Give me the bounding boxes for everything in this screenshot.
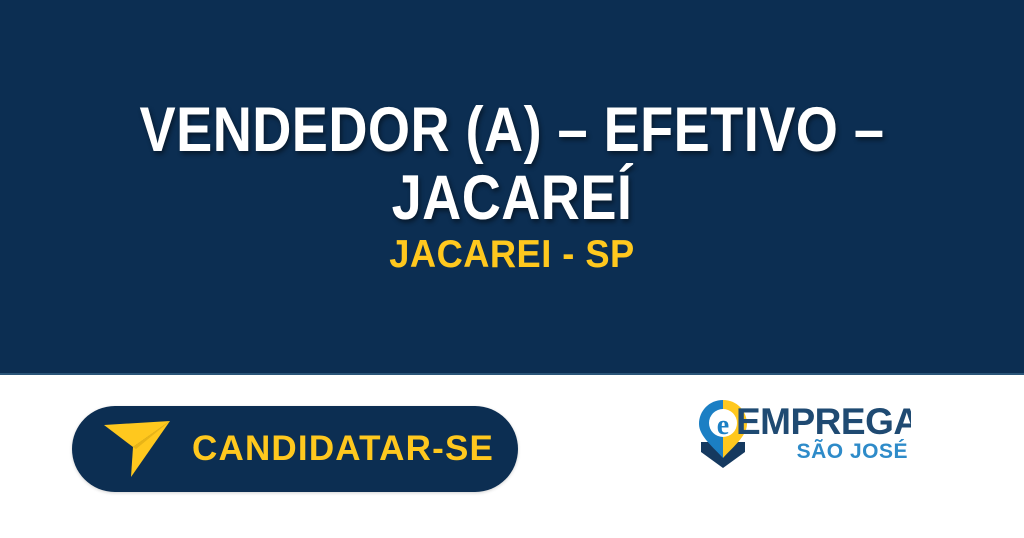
brand-name-sub: SÃO JOSÉ [797, 440, 908, 463]
svg-text:e: e [717, 410, 729, 441]
send-paper-plane-icon [100, 419, 174, 479]
action-bar: CANDIDATAR-SE e EMPREGA SÃO JOSÉ [0, 377, 1024, 538]
apply-button-label: CANDIDATAR-SE [192, 429, 494, 469]
job-posting-banner: VENDEDOR (A) – EFETIVO – JACAREÍ JACAREI… [0, 0, 1024, 538]
page-title: VENDEDOR (A) – EFETIVO – JACAREÍ [72, 96, 953, 232]
brand-wordmark: EMPREGA SÃO JOSÉ [736, 394, 911, 472]
job-location-label: JACAREI - SP [36, 232, 988, 278]
brand-logo[interactable]: e EMPREGA SÃO JOSÉ [694, 394, 909, 474]
brand-name-main: EMPREGA [736, 401, 911, 442]
apply-button[interactable]: CANDIDATAR-SE [72, 406, 518, 492]
hero-header: VENDEDOR (A) – EFETIVO – JACAREÍ JACAREI… [0, 0, 1024, 375]
